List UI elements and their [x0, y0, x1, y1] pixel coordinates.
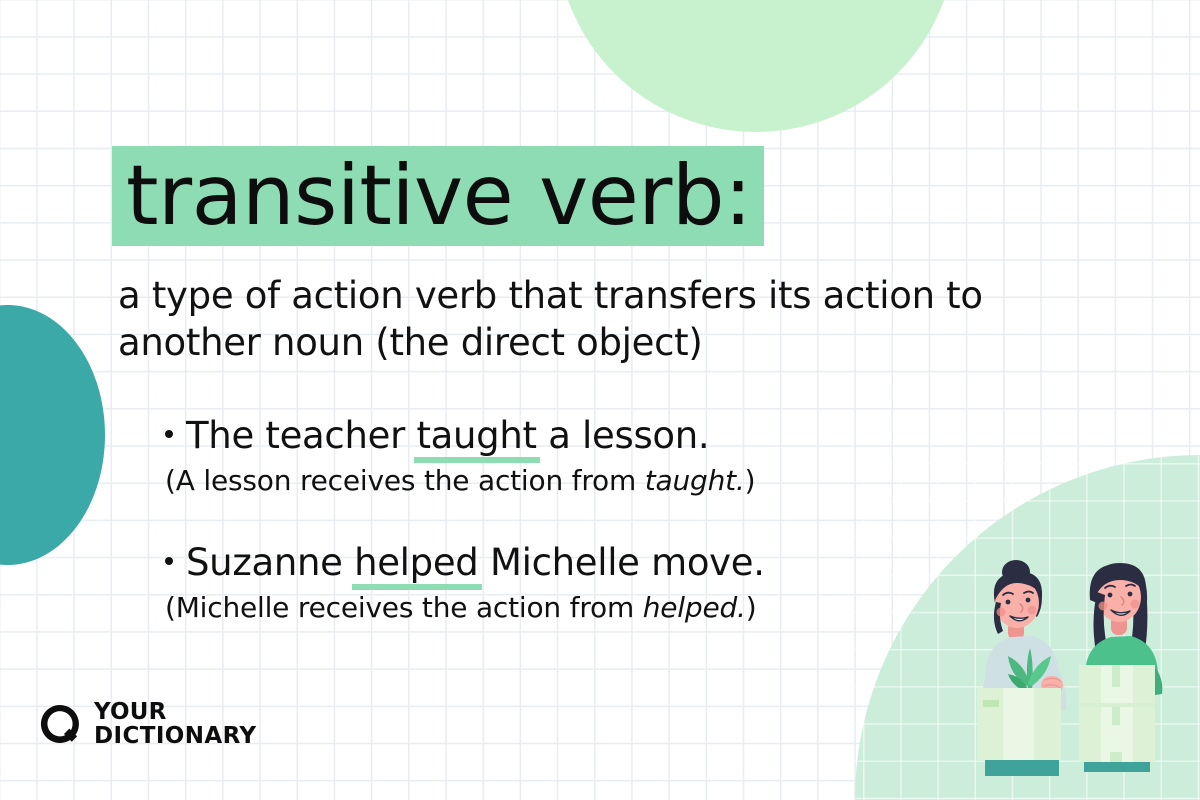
examples-list: The teacher taught a lesson. (A lesson r… — [165, 412, 1065, 626]
note-before: (Michelle receives the action from — [165, 591, 643, 624]
note-verb: helped. — [643, 591, 746, 624]
example-item: Suzanne helped Michelle move. (Michelle … — [165, 539, 1065, 626]
sentence-before: Suzanne — [186, 541, 354, 584]
example-sentence: Suzanne helped Michelle move. — [165, 539, 1065, 587]
note-before: (A lesson receives the action from — [165, 464, 645, 497]
example-item: The teacher taught a lesson. (A lesson r… — [165, 412, 1065, 499]
q-ring-logo-icon — [38, 702, 82, 746]
transitive-verb-highlight: helped — [354, 539, 478, 587]
definition-card: transitive verb: a type of action verb t… — [0, 0, 1200, 800]
logo-wordmark: YOUR DICTIONARY — [94, 700, 256, 748]
bullet-icon — [165, 557, 173, 565]
example-note: (A lesson receives the action from taugh… — [165, 463, 1065, 499]
note-after: ) — [746, 591, 757, 624]
note-verb: taught. — [645, 464, 745, 497]
example-sentence: The teacher taught a lesson. — [165, 412, 1065, 460]
note-after: ) — [745, 464, 756, 497]
logo-line-2: DICTIONARY — [94, 724, 256, 748]
card-content: transitive verb: a type of action verb t… — [0, 0, 1200, 800]
example-note: (Michelle receives the action from helpe… — [165, 590, 1065, 626]
yourdictionary-logo[interactable]: YOUR DICTIONARY — [38, 700, 256, 748]
logo-line-1: YOUR — [94, 700, 256, 724]
sentence-before: The teacher — [186, 414, 416, 457]
sentence-after: Michelle move. — [479, 541, 765, 584]
sentence-after: a lesson. — [537, 414, 710, 457]
bullet-icon — [165, 430, 173, 438]
page-title: transitive verb: — [112, 146, 764, 246]
headline-wrapper: transitive verb: — [112, 146, 764, 246]
transitive-verb-highlight: taught — [416, 412, 536, 460]
definition-text: a type of action verb that transfers its… — [118, 272, 1078, 366]
